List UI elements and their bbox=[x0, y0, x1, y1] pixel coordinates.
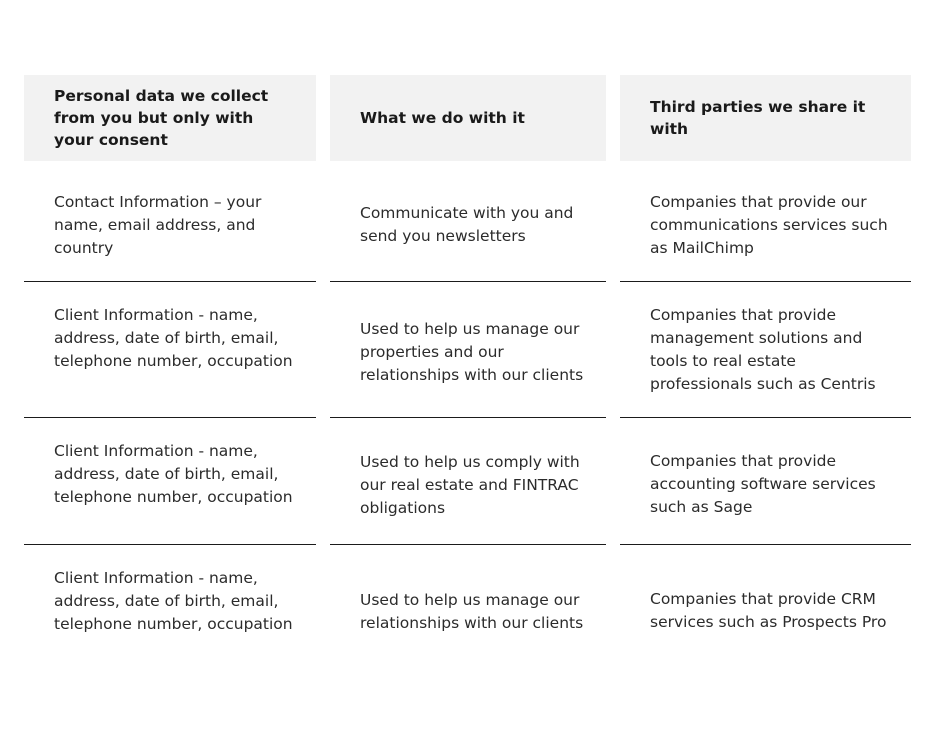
cell-use: Communicate with you and send you newsle… bbox=[330, 161, 606, 282]
cell-use: Used to help us comply with our real est… bbox=[330, 418, 606, 545]
cell-third-parties: Companies that provide our communication… bbox=[620, 161, 911, 282]
privacy-data-table-container: Personal data we collect from you but on… bbox=[24, 75, 925, 671]
cell-data-collected: Client Information - name, address, date… bbox=[24, 282, 316, 418]
cell-third-parties: Companies that provide CRM services such… bbox=[620, 545, 911, 671]
table-header: Personal data we collect from you but on… bbox=[24, 75, 911, 161]
column-header-personal-data: Personal data we collect from you but on… bbox=[24, 75, 316, 161]
table-header-row: Personal data we collect from you but on… bbox=[24, 75, 911, 161]
table-body: Contact Information – your name, email a… bbox=[24, 161, 911, 671]
cell-third-parties: Companies that provide management soluti… bbox=[620, 282, 911, 418]
cell-third-parties: Companies that provide accounting softwa… bbox=[620, 418, 911, 545]
cell-data-collected: Client Information - name, address, date… bbox=[24, 418, 316, 545]
privacy-data-table: Personal data we collect from you but on… bbox=[10, 75, 925, 671]
table-row: Client Information - name, address, date… bbox=[24, 282, 911, 418]
column-header-what-we-do: What we do with it bbox=[330, 75, 606, 161]
table-row: Contact Information – your name, email a… bbox=[24, 161, 911, 282]
table-row: Client Information - name, address, date… bbox=[24, 545, 911, 671]
cell-use: Used to help us manage our relationships… bbox=[330, 545, 606, 671]
cell-data-collected: Contact Information – your name, email a… bbox=[24, 161, 316, 282]
cell-data-collected: Client Information - name, address, date… bbox=[24, 545, 316, 671]
column-header-third-parties: Third parties we share it with bbox=[620, 75, 911, 161]
cell-use: Used to help us manage our properties an… bbox=[330, 282, 606, 418]
table-row: Client Information - name, address, date… bbox=[24, 418, 911, 545]
